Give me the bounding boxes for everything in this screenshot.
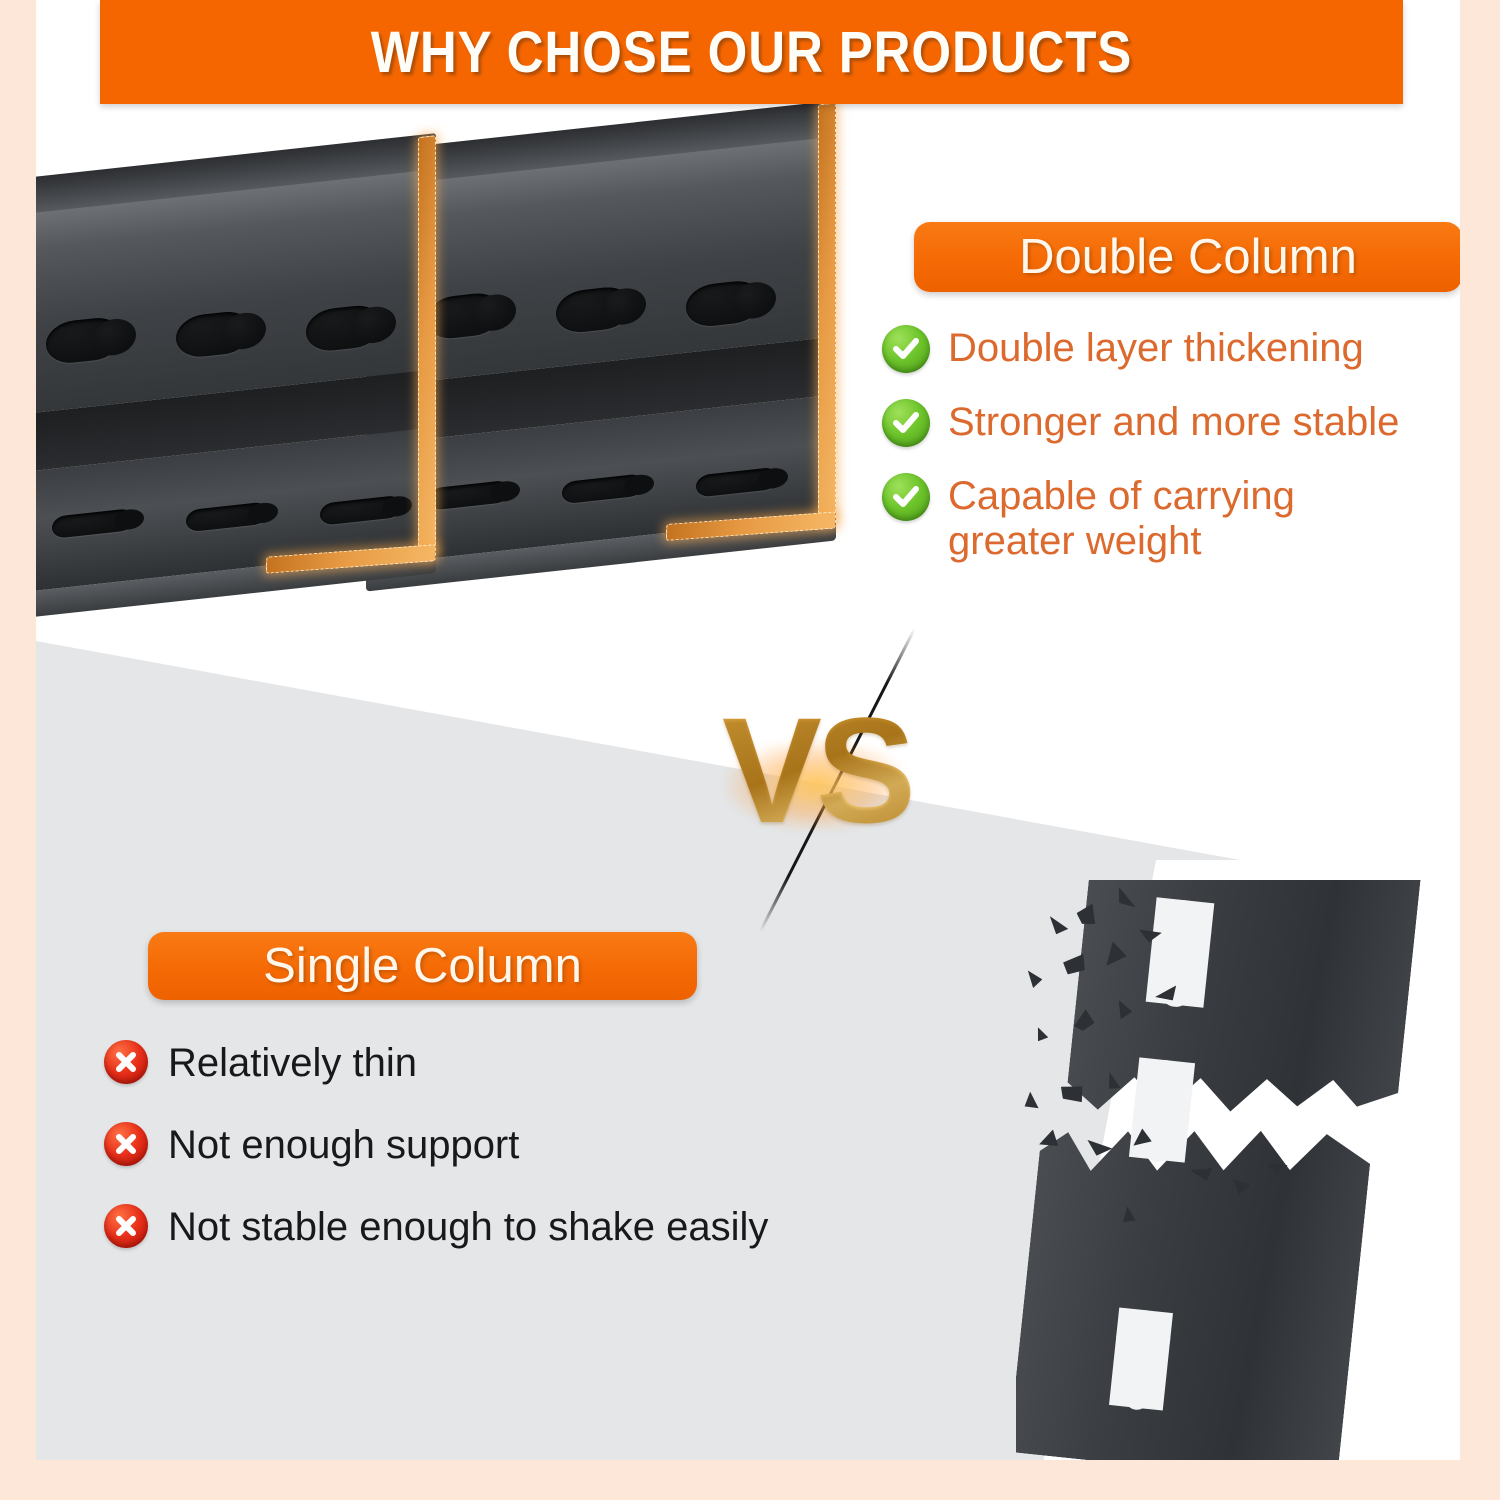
flange-slot — [428, 480, 510, 511]
header-banner: WHY CHOSE OUR PRODUCTS — [100, 0, 1403, 104]
flange-slot — [52, 508, 134, 539]
list-item: Not enough support — [104, 1122, 924, 1168]
bullet-label: Double layer thickening — [948, 325, 1364, 371]
list-item: Capable of carrying greater weight — [882, 473, 1460, 564]
debris-shard — [1044, 916, 1070, 938]
debris-shard — [1025, 971, 1044, 990]
double-column-badge: Double Column — [914, 222, 1460, 292]
keyhole-slot — [176, 309, 252, 359]
beam-rear — [366, 136, 836, 597]
beam-rear-cut-edge-highlight — [818, 102, 836, 524]
bullet-label: Capable of carrying greater weight — [948, 473, 1378, 564]
keyhole-slot — [46, 315, 122, 365]
single-column-bullet-list: Relatively thin Not enough support Not s… — [104, 1040, 924, 1285]
broken-post-upper-piece — [1061, 880, 1421, 1176]
keyhole-slot — [1146, 897, 1215, 1007]
page-border-right — [1460, 0, 1500, 1500]
product-comparison-infographic: VS Double Column Double layer thickening — [0, 0, 1500, 1500]
single-column-badge: Single Column — [148, 932, 697, 1000]
page-border-bottom — [0, 1460, 1500, 1500]
keyhole-slot — [426, 291, 502, 341]
beam-front — [36, 169, 436, 635]
cross-circle-icon — [104, 1122, 148, 1166]
flange-slot — [696, 467, 778, 498]
keyhole-slot — [1109, 1307, 1173, 1410]
list-item: Double layer thickening — [882, 325, 1460, 373]
list-item: Relatively thin — [104, 1040, 924, 1086]
keyhole-slot — [686, 279, 762, 329]
debris-shard — [1020, 1092, 1042, 1115]
bullet-label: Stronger and more stable — [948, 399, 1399, 445]
check-circle-icon — [882, 473, 930, 521]
broken-post-photo — [1016, 880, 1460, 1460]
list-item: Not stable enough to shake easily — [104, 1204, 924, 1250]
keyhole-slot — [1129, 1057, 1195, 1162]
list-item: Stronger and more stable — [882, 399, 1460, 447]
check-circle-icon — [882, 325, 930, 373]
beam-front-cut-edge-highlight — [418, 135, 436, 557]
flange-slot — [562, 473, 644, 504]
keyhole-slot — [556, 285, 632, 335]
page-title: WHY CHOSE OUR PRODUCTS — [178, 0, 1325, 104]
double-column-bullet-list: Double layer thickening Stronger and mor… — [882, 325, 1460, 590]
flange-slot — [320, 495, 402, 526]
broken-post-lower-piece — [1016, 1094, 1374, 1460]
cross-circle-icon — [104, 1040, 148, 1084]
page-border-left — [0, 0, 36, 1500]
content-canvas: VS Double Column Double layer thickening — [36, 0, 1460, 1460]
cross-circle-icon — [104, 1204, 148, 1248]
bullet-label: Relatively thin — [168, 1040, 417, 1086]
versus-label: VS — [676, 640, 956, 900]
check-circle-icon — [882, 399, 930, 447]
flange-slot — [186, 501, 268, 532]
keyhole-slot — [306, 303, 382, 353]
versus-badge: VS — [676, 640, 956, 900]
debris-shard — [1032, 1027, 1050, 1044]
bullet-label: Not enough support — [168, 1122, 519, 1168]
double-column-beam-photo — [36, 150, 836, 630]
bullet-label: Not stable enough to shake easily — [168, 1204, 768, 1250]
